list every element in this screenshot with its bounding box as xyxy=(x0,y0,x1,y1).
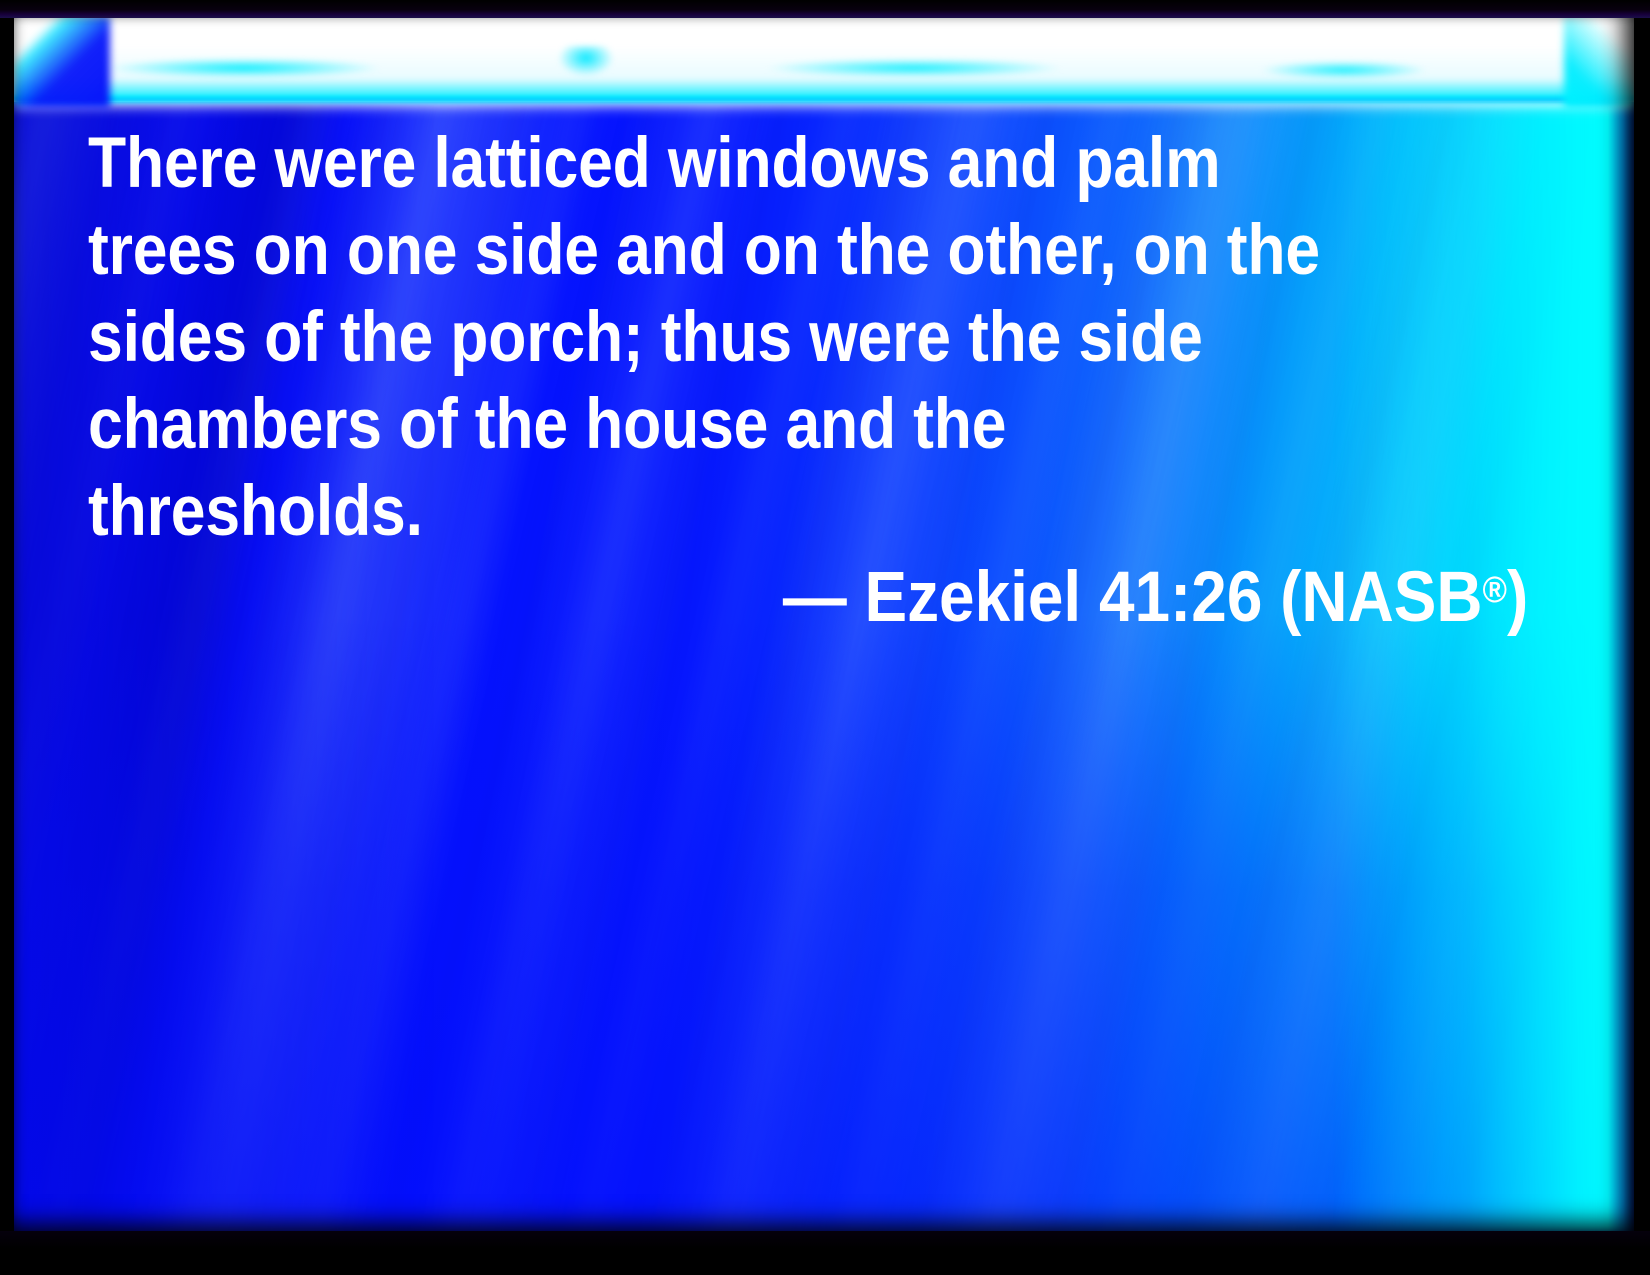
verse-line-1: There were latticed windows and palm xyxy=(88,120,1373,207)
attribution-space-1 xyxy=(846,558,864,637)
attribution-chapter-verse: 41:26 xyxy=(1099,558,1262,637)
background-right-falloff xyxy=(1608,16,1634,1232)
attribution-space-3 xyxy=(1262,558,1280,637)
verse-line-4: chambers of the house and the xyxy=(88,381,1373,468)
verse-attribution: — Ezekiel 41:26 (NASB®) xyxy=(88,554,1528,641)
slide-frame-bottom xyxy=(0,1231,1650,1275)
attribution-dash: — xyxy=(783,558,847,637)
verse-line-5: thresholds. xyxy=(88,468,1373,555)
attribution-book: Ezekiel xyxy=(864,558,1081,637)
verse-line-2: trees on one side and on the other, on t… xyxy=(88,207,1373,294)
verse-line-3: sides of the porch; thus were the side xyxy=(88,294,1373,381)
verse-text-block: There were latticed windows and palm tre… xyxy=(88,120,1548,555)
registered-trademark-icon: ® xyxy=(1482,569,1506,610)
top-glow-edge xyxy=(14,96,1634,104)
attribution-inner: — Ezekiel 41:26 (NASB®) xyxy=(783,554,1528,641)
top-glow-right-corner xyxy=(1564,16,1634,108)
attribution-translation-open: (NASB xyxy=(1280,558,1482,637)
attribution-translation-close: ) xyxy=(1507,558,1528,637)
top-glow-cyan-wisps xyxy=(14,46,1634,102)
attribution-space-2 xyxy=(1081,558,1099,637)
slide-frame-top xyxy=(0,0,1650,18)
verse-slide: There were latticed windows and palm tre… xyxy=(0,0,1650,1275)
top-glow-left-corner xyxy=(14,16,110,108)
slide-artwork: There were latticed windows and palm tre… xyxy=(14,16,1634,1232)
